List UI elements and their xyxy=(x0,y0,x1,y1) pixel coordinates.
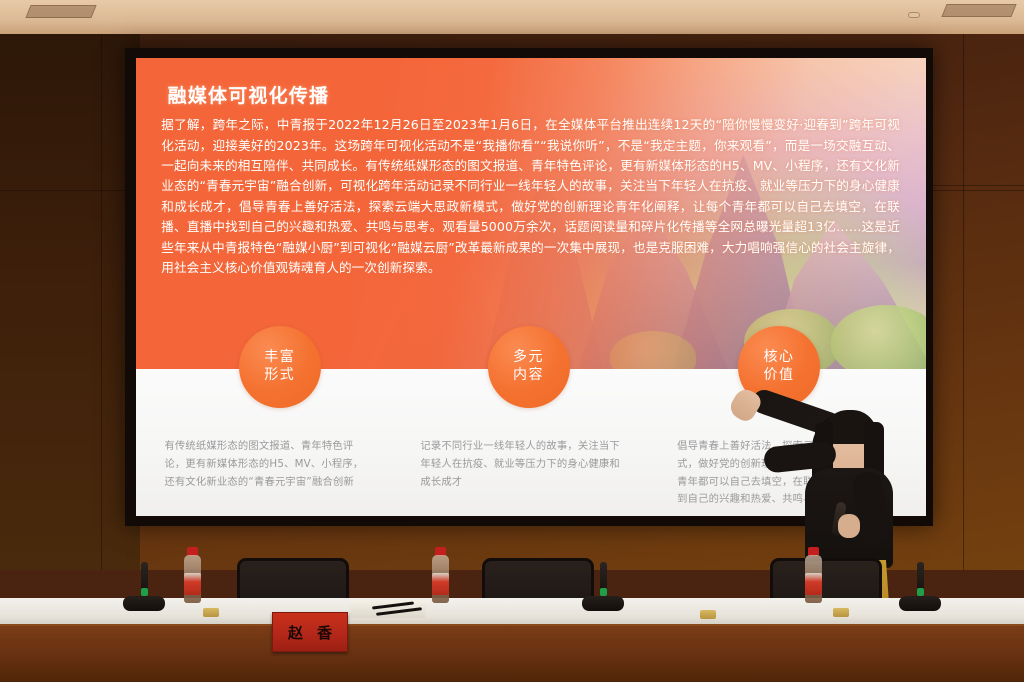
badge-line-2: 内容 xyxy=(513,367,544,385)
ceiling xyxy=(0,0,1024,34)
slide-badge-rich-form: 丰富 形式 xyxy=(239,326,321,408)
ceiling-vent-right xyxy=(941,4,1016,17)
ceiling-light-spot xyxy=(908,12,920,18)
table-microphone-base xyxy=(899,596,941,611)
microphone-led-indicator xyxy=(917,588,924,596)
slide-column-text-1: 有传统纸媒形态的图文报道、青年特色评论，更有新媒体形态的H5、MV、小程序，还有… xyxy=(164,438,365,491)
slide-title: 融媒体可视化传播 xyxy=(168,81,330,108)
water-bottle xyxy=(432,547,449,603)
bottle-label xyxy=(805,573,822,595)
table-microphone-base xyxy=(582,596,624,611)
slide-body-paragraph: 据了解，跨年之际，中青报于2022年12月26日至2023年1月6日，在全媒体平… xyxy=(161,115,900,278)
name-plate: 赵 香 xyxy=(272,612,348,652)
bottle-label xyxy=(184,573,201,595)
badge-line-1: 丰富 xyxy=(264,349,295,367)
ceiling-vent-left xyxy=(25,5,96,18)
name-plate-char-1: 赵 xyxy=(288,622,303,643)
badge-line-2: 价值 xyxy=(763,367,794,385)
slide-badge-diverse-content: 多元 内容 xyxy=(488,326,570,408)
bottle-label xyxy=(432,573,449,595)
slide-column-text-2: 记录不同行业一线年轻人的故事，关注当下年轻人在抗疫、就业等压力下的身心健康和成长… xyxy=(420,438,621,491)
microphone-led-indicator xyxy=(600,588,607,596)
snack-item xyxy=(833,608,849,617)
conference-room: 融媒体可视化传播 据了解，跨年之际，中青报于2022年12月26日至2023年1… xyxy=(0,0,1024,682)
snack-item xyxy=(700,610,716,619)
water-bottle xyxy=(184,547,201,603)
badge-line-1: 多元 xyxy=(513,349,544,367)
table-front-panel xyxy=(0,626,1024,682)
wall-seam-vertical-2 xyxy=(963,30,964,570)
table-microphone-base xyxy=(123,596,165,611)
badge-line-2: 形式 xyxy=(264,367,295,385)
conference-table-area xyxy=(0,560,1024,682)
badge-line-1: 核心 xyxy=(763,349,794,367)
wall-seam-vertical-1 xyxy=(101,30,102,570)
wall-left-dark-panel xyxy=(0,30,140,570)
microphone-led-indicator xyxy=(141,588,148,596)
water-bottle xyxy=(805,547,822,603)
wall-seam-horizontal-2 xyxy=(930,185,1024,186)
presenter-hand-holding-mic xyxy=(838,514,860,538)
snack-item xyxy=(203,608,219,617)
name-plate-char-2: 香 xyxy=(317,622,332,643)
